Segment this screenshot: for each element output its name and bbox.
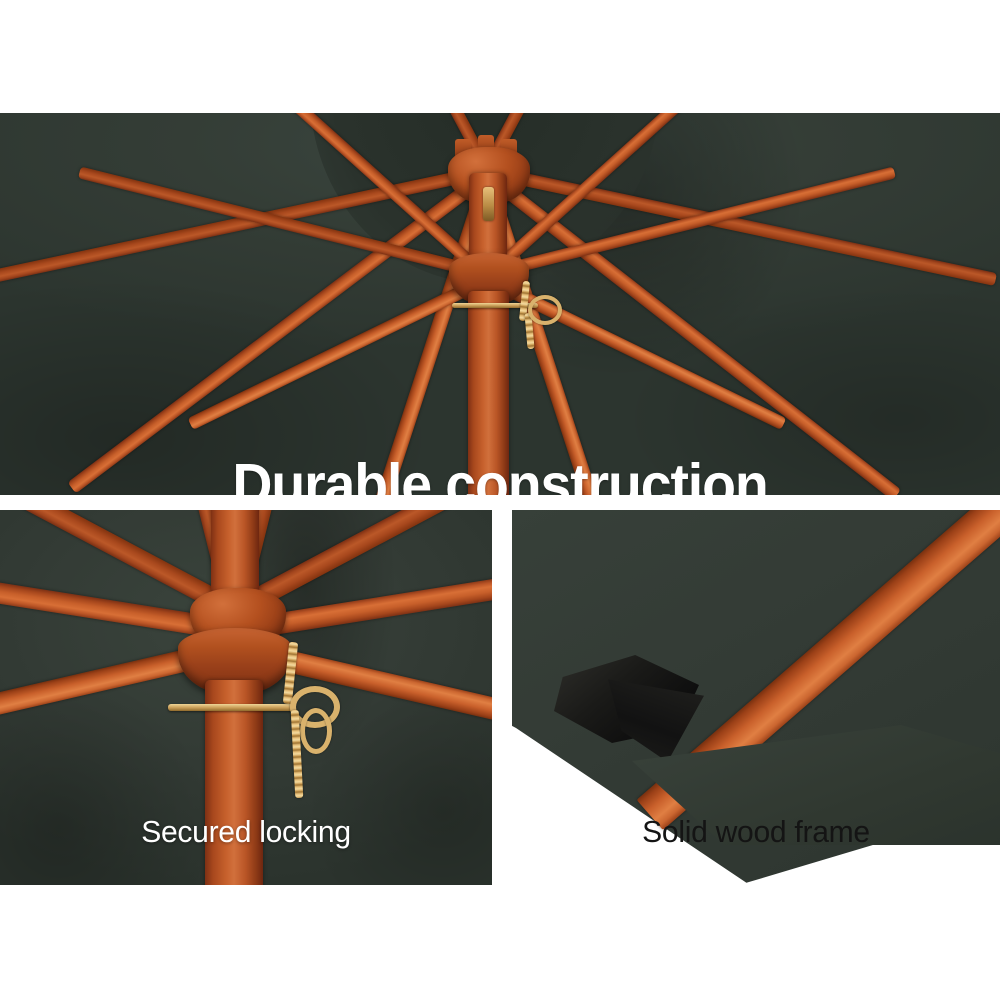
locking-pin (168, 704, 293, 711)
secured-locking-panel: Secured locking (0, 510, 492, 885)
infographic-canvas: Durable construction 8-rib support for A… (0, 0, 1000, 1000)
brass-hook-ring (528, 295, 562, 325)
panel-headline: Durable construction (30, 455, 970, 495)
panel-caption-solid-wood-frame: Solid wood frame (519, 814, 992, 850)
brass-hook-loop (300, 708, 332, 754)
pole-cord-slot (483, 187, 494, 221)
solid-wood-frame-panel: Solid wood frame (512, 510, 1000, 885)
panel-caption-secured-locking: Secured locking (7, 814, 484, 850)
umbrella-hub-panel: Durable construction 8-rib support for A… (0, 113, 1000, 495)
